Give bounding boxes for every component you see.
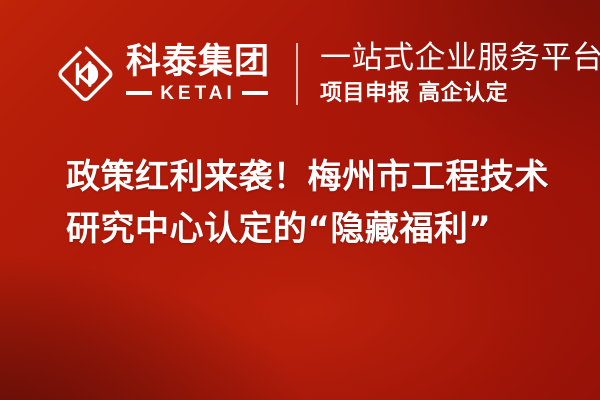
masthead-divider (296, 43, 298, 105)
brand-wordmark: 科泰集团 KETAI (126, 45, 270, 103)
ketai-logo-icon[interactable] (56, 44, 116, 104)
brand-name-en-row: KETAI (126, 84, 268, 103)
tagline-block: 一站式企业服务平台 项目申报 高企认定 (320, 41, 600, 106)
brand-name-en: KETAI (152, 84, 242, 103)
promo-banner: 科泰集团 KETAI 一站式企业服务平台 项目申报 高企认定 政策红利来袭！梅州… (0, 0, 600, 400)
headline-title: 政策红利来袭！梅州市工程技术研究中心认定的“隐藏福利” (66, 152, 576, 255)
tagline-secondary: 项目申报 高企认定 (320, 80, 600, 106)
wordmark-rule-right (242, 91, 268, 95)
wordmark-rule-left (126, 91, 152, 95)
brand-masthead: 科泰集团 KETAI 一站式企业服务平台 项目申报 高企认定 (56, 36, 600, 112)
brand-name-cn: 科泰集团 (126, 45, 270, 81)
tagline-primary: 一站式企业服务平台 (320, 41, 600, 76)
